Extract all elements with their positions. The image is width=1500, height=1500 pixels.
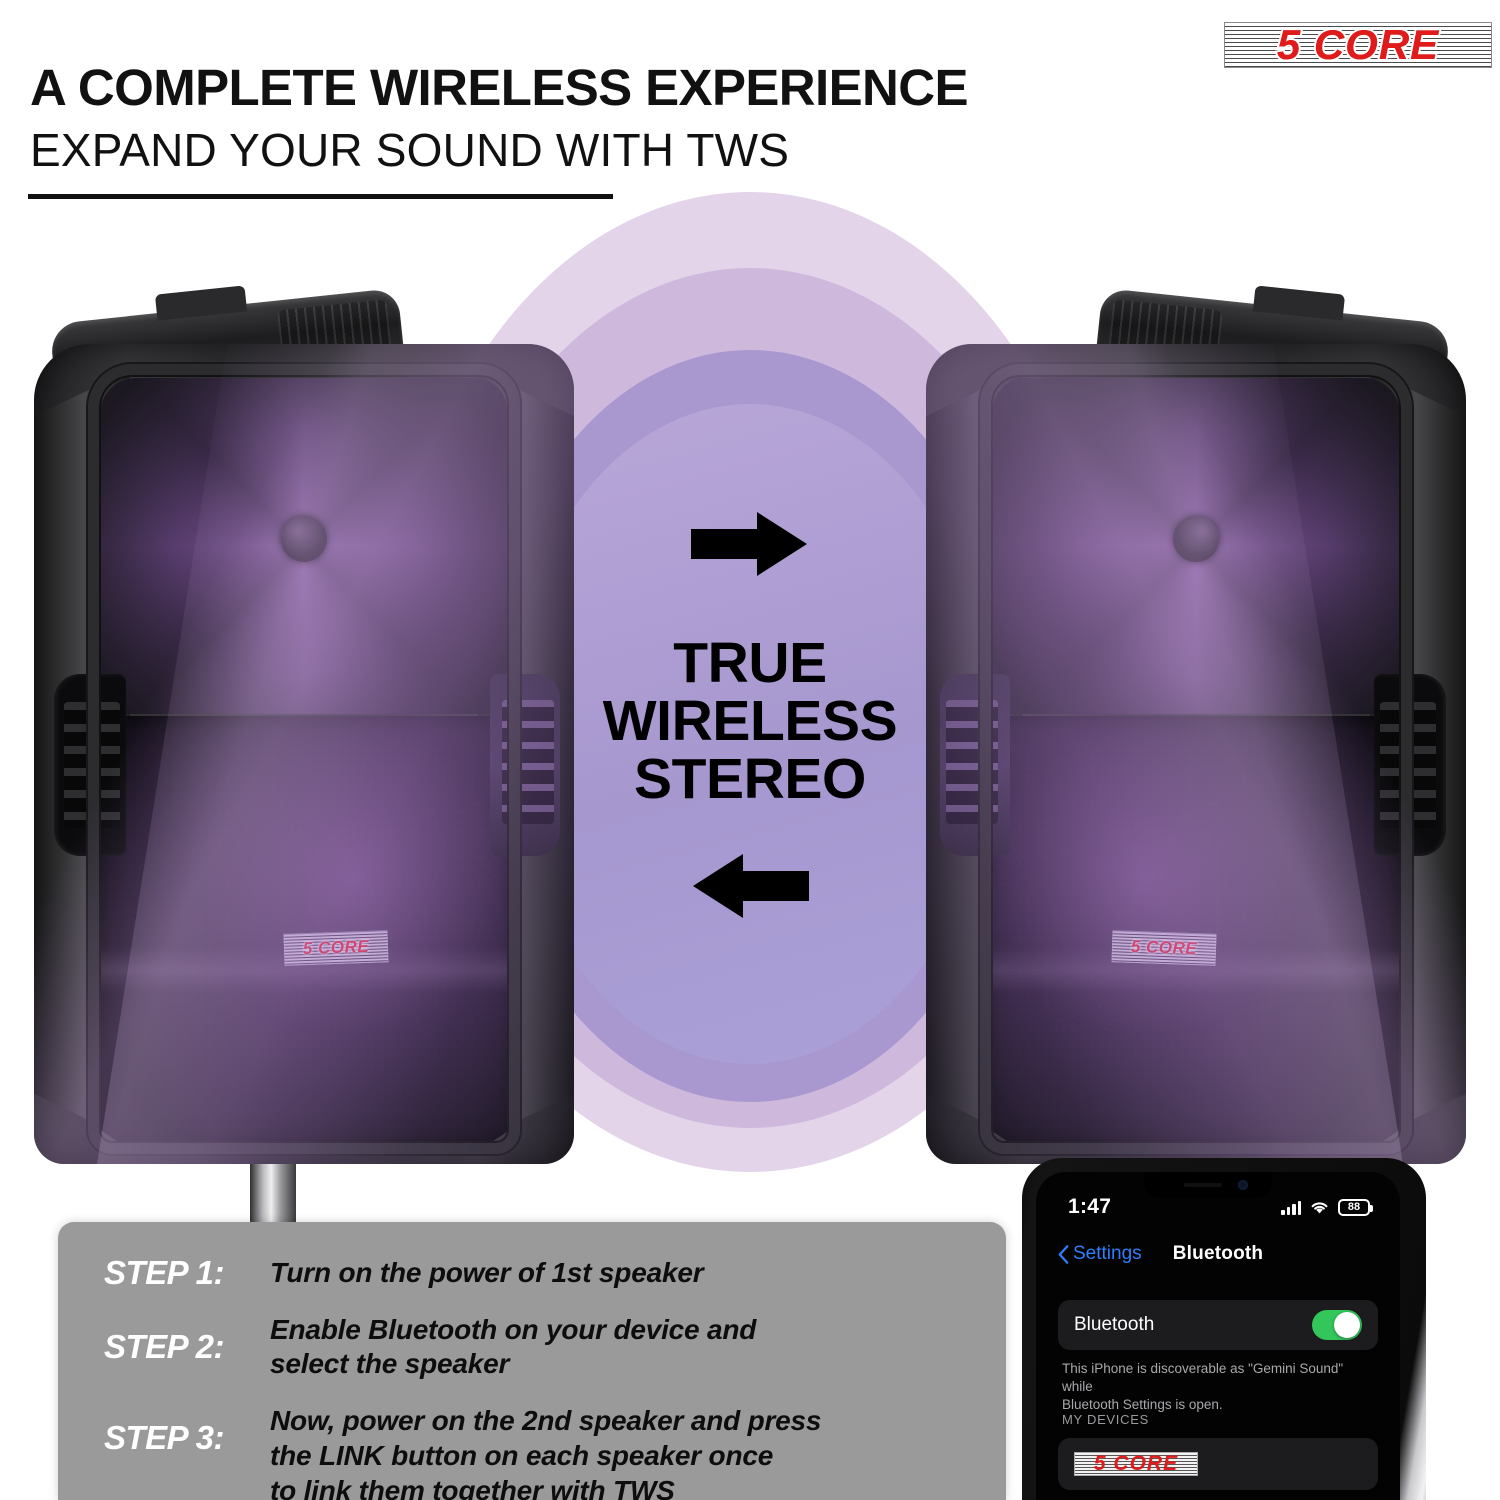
step-row: STEP 3: Now, power on the 2nd speaker an…: [104, 1404, 1006, 1500]
brand-logo: 5 CORE 5 CORE: [1224, 14, 1492, 76]
speaker-brand-badge: 5 CORE: [1111, 930, 1216, 966]
phone-mockup: 1:47 88 Settings: [1022, 1158, 1426, 1500]
step-text: Turn on the power of 1st speaker: [270, 1256, 703, 1291]
step-row: STEP 2: Enable Bluetooth on your device …: [104, 1313, 1006, 1382]
nav-bar: Settings Bluetooth: [1036, 1234, 1400, 1274]
tws-headline: TRUE WIRELESS STEREO: [560, 634, 940, 808]
status-bar: 1:47 88: [1036, 1190, 1400, 1224]
front-camera-icon: [1238, 1180, 1248, 1190]
step-label: STEP 1:: [104, 1256, 270, 1291]
device-list-item[interactable]: 5 CORE: [1058, 1438, 1378, 1490]
arrow-left-icon: [691, 850, 809, 922]
speaker-faceplate-rim: [980, 364, 1412, 1154]
left-speaker: 5 CORE: [28, 262, 588, 1182]
status-time: 1:47: [1068, 1195, 1111, 1219]
arrow-right-icon: [691, 508, 809, 580]
step-row: STEP 1: Turn on the power of 1st speaker: [104, 1256, 1006, 1291]
tws-center-block: TRUE WIRELESS STEREO: [560, 508, 940, 922]
step-label: STEP 3:: [104, 1404, 270, 1456]
step-text: Now, power on the 2nd speaker and press …: [270, 1404, 821, 1500]
device-brand-logo: 5 CORE: [1074, 1449, 1198, 1479]
bluetooth-toggle-switch[interactable]: [1312, 1310, 1362, 1340]
badge-text: 5 CORE: [283, 930, 388, 966]
speaker-faceplate-rim: [88, 364, 520, 1154]
speaker-cabinet: 5 CORE: [926, 344, 1466, 1164]
phone-screen: 1:47 88 Settings: [1036, 1172, 1400, 1500]
bluetooth-discoverable-note: This iPhone is discoverable as "Gemini S…: [1062, 1360, 1374, 1415]
bluetooth-toggle-row[interactable]: Bluetooth: [1058, 1300, 1378, 1350]
wifi-icon: [1310, 1200, 1329, 1215]
headline-secondary: EXPAND YOUR SOUND WITH TWS: [30, 127, 1210, 173]
speaker-cabinet: 5 CORE: [34, 344, 574, 1164]
brand-logo-text: 5 CORE: [1224, 14, 1492, 76]
cellular-signal-icon: [1281, 1200, 1301, 1215]
battery-level: 88: [1348, 1201, 1360, 1213]
bluetooth-label: Bluetooth: [1074, 1314, 1154, 1336]
step-label: STEP 2:: [104, 1313, 270, 1365]
headline-primary: A COMPLETE WIRELESS EXPERIENCE: [30, 62, 1210, 113]
badge-text: 5 CORE: [1111, 930, 1216, 966]
speaker-brand-badge: 5 CORE: [283, 930, 388, 966]
device-brand-text: 5 CORE: [1074, 1449, 1198, 1479]
page-title: A COMPLETE WIRELESS EXPERIENCE EXPAND YO…: [30, 62, 1210, 173]
right-speaker: 5 CORE: [912, 262, 1472, 1182]
my-devices-header: MY DEVICES: [1062, 1412, 1149, 1427]
status-indicators: 88: [1281, 1199, 1370, 1216]
nav-title: Bluetooth: [1036, 1243, 1400, 1265]
steps-panel: STEP 1: Turn on the power of 1st speaker…: [58, 1222, 1006, 1500]
step-text: Enable Bluetooth on your device and sele…: [270, 1313, 756, 1382]
headline-underline: [28, 194, 613, 199]
battery-icon: 88: [1338, 1199, 1370, 1216]
earpiece-speaker-icon: [1184, 1183, 1222, 1187]
